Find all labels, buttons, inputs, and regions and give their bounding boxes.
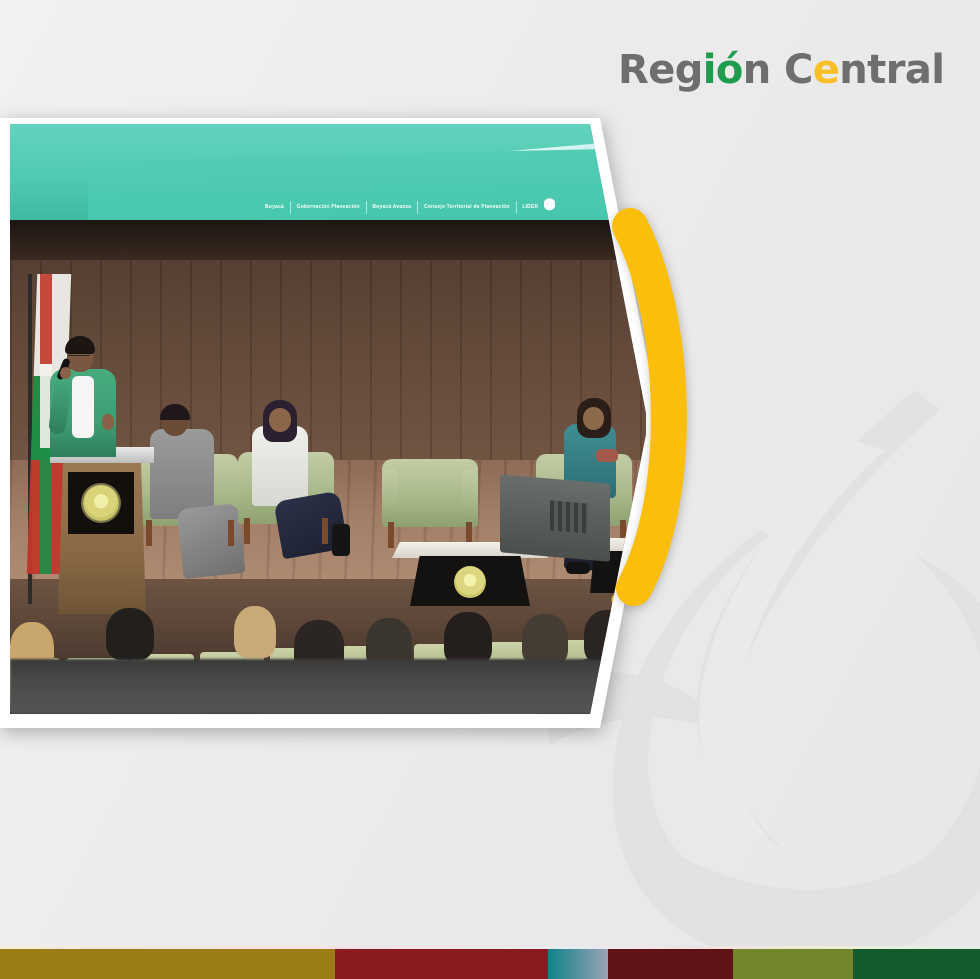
brand-text-central-c: C	[784, 47, 813, 93]
brand-text-region-n: n	[743, 47, 771, 93]
stage-monitor-grill	[550, 500, 588, 533]
empty-armchair-arm-right	[462, 469, 478, 525]
chair-leg	[322, 518, 328, 544]
logo-boyaca: Boyacá	[265, 204, 284, 210]
logo-consejo: Consejo Territorial de Planeación	[424, 204, 510, 210]
bottom-color-bar	[0, 949, 980, 979]
brand-text-central-rest: ntral	[839, 47, 944, 93]
center-table-seal	[454, 566, 486, 598]
logo-pyramid-icon	[544, 198, 555, 216]
logo-lider: LIDER	[522, 204, 538, 210]
event-photo: Boyacá Gobernación Planeación Boyacá Ava…	[10, 124, 646, 714]
chair-leg	[228, 520, 234, 546]
brand-text-central-e: e	[813, 47, 840, 93]
brand-text-region-i: i	[703, 47, 716, 93]
chair-leg	[388, 522, 394, 548]
brand-text-region-o: ó	[716, 47, 743, 93]
panelist-3-hands	[596, 449, 618, 462]
colorbar-segment-gold	[0, 949, 335, 979]
speaker-glasses	[68, 355, 90, 360]
podium-front-plate	[68, 472, 134, 534]
empty-armchair-arm-left	[382, 469, 398, 525]
panelist-2-face	[269, 408, 291, 432]
colorbar-segment-teal-fade	[548, 949, 608, 979]
wall-shadow-band	[10, 220, 646, 260]
colorbar-segment-dark-maroon	[608, 949, 733, 979]
audience-head	[106, 608, 154, 660]
panelist-3-shoe	[566, 562, 590, 574]
speaker-gesturing-hand	[102, 414, 114, 430]
brand-text-space	[771, 47, 784, 93]
photo-bottom-blur-band	[10, 659, 646, 714]
event-photo-card: Boyacá Gobernación Planeación Boyacá Ava…	[0, 118, 660, 728]
speaker-hand-on-mic	[60, 367, 71, 379]
colorbar-segment-forest	[853, 949, 980, 979]
logo-avanza: Boyacá Avanza	[372, 204, 411, 210]
chair-leg	[244, 518, 250, 544]
logo-separator	[516, 201, 517, 214]
speaker-shirt	[72, 376, 94, 438]
panelist-2-boot	[332, 524, 350, 556]
logo-separator	[366, 201, 367, 214]
brand-text-region-reg: Reg	[618, 47, 703, 93]
colorbar-segment-olive	[733, 949, 853, 979]
logo-separator	[290, 201, 291, 214]
audience-head	[234, 606, 276, 658]
colorbar-segment-crimson	[335, 949, 548, 979]
logo-planeacion: Gobernación Planeación	[297, 204, 360, 210]
podium-seal-emblem	[83, 485, 119, 521]
screen-sponsor-logos: Boyacá Gobernación Planeación Boyacá Ava…	[265, 194, 555, 220]
panelist-1-legs	[177, 503, 246, 579]
panelist-3-face	[583, 407, 604, 430]
logo-separator	[417, 201, 418, 214]
chair-leg	[146, 520, 152, 546]
brand-wordmark: Región Central	[618, 47, 944, 93]
audience-head	[444, 612, 492, 666]
poster-canvas: Región Central Boyacá Gobernación Planea…	[0, 0, 980, 979]
